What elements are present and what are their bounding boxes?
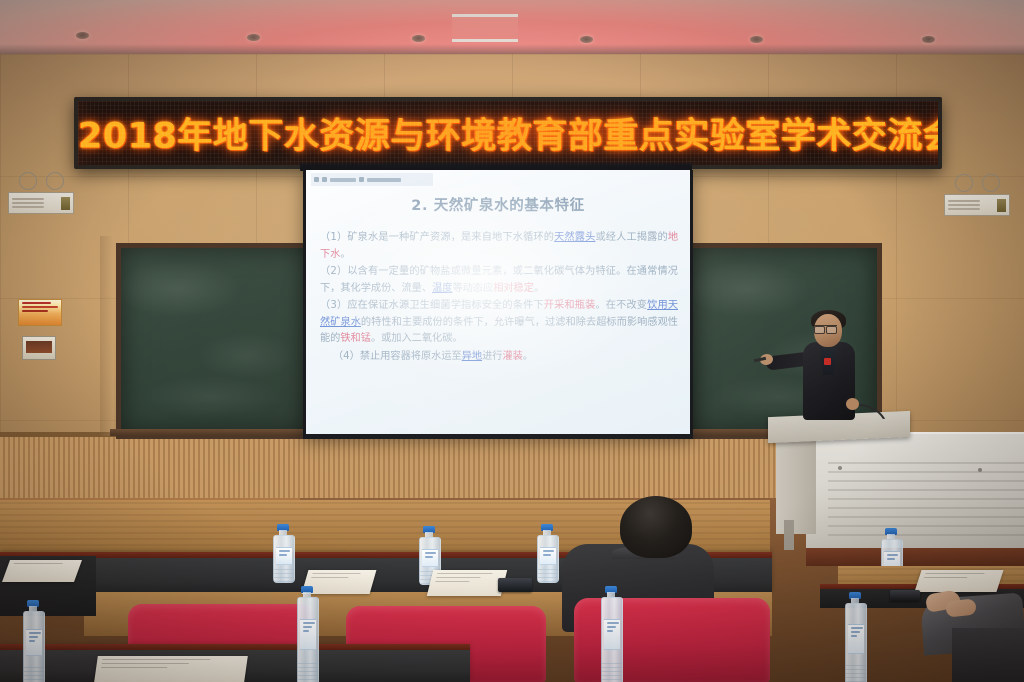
slide-bullet: （2）以含有一定量的矿物盐或微量元素，或二氧化碳气体为特征。在通常情况下，其化学… — [320, 264, 678, 297]
slide-text-segment: 温度 — [432, 283, 452, 294]
slide-text-segment: 。 — [534, 283, 544, 294]
slide-bullet: （4）禁止用容器将原水运至异地进行灌装。 — [333, 349, 678, 366]
blackboard-left — [116, 243, 316, 439]
slide-bullet-marker: （4） — [333, 351, 360, 362]
projection-screen: 2. 天然矿泉水的基本特征 （1）矿泉水是一种矿产资源，是来自地下水循环的天然露… — [303, 170, 693, 439]
slide-text-segment: 相对稳定 — [493, 283, 534, 294]
slide-toolbar — [311, 173, 433, 186]
lectern-body — [776, 434, 816, 534]
presenter-figure — [770, 312, 885, 424]
ceiling-vent-icon — [452, 14, 518, 42]
toolbar-icon — [367, 178, 401, 182]
paper-sheet[interactable] — [2, 560, 82, 582]
ceiling-downlight-icon — [922, 36, 935, 43]
slide-text-segment: 天然露头 — [554, 232, 595, 243]
emergency-lamp-icon — [46, 172, 64, 190]
ceiling-downlight-icon — [247, 34, 260, 41]
slide-text-segment: 。 — [340, 249, 350, 260]
emergency-lamp-icon — [19, 172, 37, 190]
lecture-hall-photo: 2018年地下水资源与环境教育部重点实验室学术交流会 2. 天然矿泉水的基本特征… — [0, 0, 1024, 682]
safety-notice-sign — [18, 299, 62, 326]
paper-sheet[interactable] — [94, 656, 248, 682]
presenter-hand — [846, 398, 859, 410]
attendee-right-torso — [952, 628, 1024, 682]
emergency-light-icon — [8, 172, 74, 214]
slide-text-segment: 矿泉水是一种矿产资源，是来自地下水循环的 — [347, 232, 554, 243]
slide-text-segment: 应在保证水源卫生细菌学指标安全的条件下 — [347, 300, 543, 311]
mobile-phone[interactable] — [498, 578, 532, 592]
toolbar-icon — [330, 178, 356, 182]
board-side-panel — [100, 236, 114, 436]
podium-screw-icon — [838, 466, 842, 470]
stage-step — [806, 548, 1024, 566]
presenter-badge — [824, 358, 831, 365]
ceiling — [0, 0, 1024, 56]
slide-bullet-marker: （2） — [320, 266, 347, 277]
front-desk-edge — [0, 644, 470, 650]
led-glow — [78, 101, 938, 165]
toolbar-icon — [314, 177, 319, 182]
slide-body: （1）矿泉水是一种矿产资源，是来自地下水循环的天然露头或经人工揭露的地下水。（2… — [320, 230, 678, 366]
podium-screw-icon — [978, 468, 982, 472]
slide-text-segment: 。在不改变 — [595, 300, 647, 311]
slide-text-segment: 进行 — [482, 351, 502, 362]
glasses-icon — [814, 325, 837, 332]
slide-text-segment: 。 — [523, 351, 533, 362]
paper-sheet[interactable] — [427, 570, 507, 596]
attendee-head — [620, 496, 692, 558]
emergency-lamp-icon — [955, 174, 973, 192]
slide-bullet-marker: （1） — [320, 232, 347, 243]
slide-text-segment: 灌装 — [502, 351, 522, 362]
slide-bullet: （1）矿泉水是一种矿产资源，是来自地下水循环的天然露头或经人工揭露的地下水。 — [320, 230, 678, 263]
slide-text-segment: 。或加入二氧化碳。 — [371, 333, 463, 344]
ceiling-downlight-icon — [750, 36, 763, 43]
slide-text-segment: 或经人工揭露的 — [595, 232, 667, 243]
mobile-phone[interactable] — [890, 590, 920, 601]
led-banner-display: 2018年地下水资源与环境教育部重点实验室学术交流会 — [74, 97, 942, 169]
slide-bullet-marker: （3） — [320, 300, 347, 311]
toolbar-icon — [359, 177, 364, 182]
ceiling-downlight-icon — [412, 35, 425, 42]
slide-bullet: （3）应在保证水源卫生细菌学指标安全的条件下开采和瓶装。在不改变饮用天然矿泉水的… — [320, 298, 678, 348]
wall-control-panel[interactable] — [22, 336, 56, 360]
paper-sheet[interactable] — [914, 570, 1003, 592]
slide-text-segment: 铁和锰 — [340, 333, 371, 344]
emergency-light-icon — [944, 174, 1010, 216]
lectern-leg — [784, 520, 794, 550]
ceiling-downlight-icon — [580, 36, 593, 43]
podium-vent-grille — [828, 462, 1024, 536]
slide-text-segment: 禁止用容器将原水运至 — [360, 351, 462, 362]
toolbar-icon — [322, 177, 327, 182]
slide-text-segment: 开采和瓶装 — [544, 300, 596, 311]
slide-text-segment: 异地 — [462, 351, 482, 362]
ceiling-downlight-icon — [76, 32, 89, 39]
emergency-lamp-icon — [982, 174, 1000, 192]
slide-title: 2. 天然矿泉水的基本特征 — [306, 194, 690, 215]
slide-text-segment: 等动态应 — [452, 283, 493, 294]
chalk-ledge — [110, 429, 312, 436]
